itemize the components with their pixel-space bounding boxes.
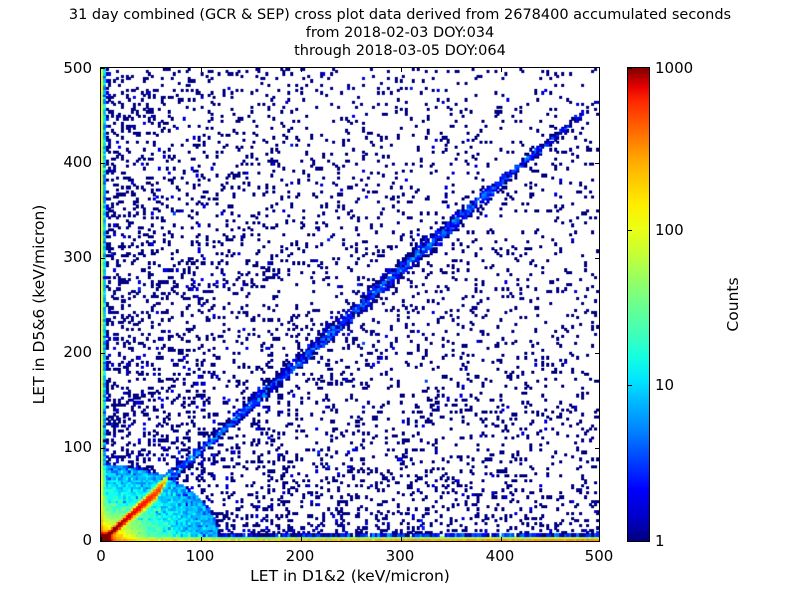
xticklabel-300: 300 (386, 547, 415, 565)
xtick-300 (401, 537, 402, 542)
yticklabel-500: 500 (50, 59, 92, 77)
xtick-500 (599, 537, 600, 542)
cbticklabel-1: 1 (655, 532, 665, 550)
yticklabel-200: 200 (50, 343, 92, 361)
title-line-3: through 2018-03-05 DOY:064 (0, 42, 800, 60)
ytick-right-300 (595, 258, 600, 259)
colorbar (627, 67, 650, 542)
ytick-100 (100, 448, 105, 449)
ytick-right-400 (595, 163, 600, 164)
cbtick-100 (627, 230, 632, 231)
xtick-0 (101, 537, 102, 542)
yticklabel-100: 100 (50, 438, 92, 456)
x-axis-label: LET in D1&2 (keV/micron) (100, 567, 600, 585)
cbticklabel-100: 100 (655, 221, 684, 239)
ytick-200 (100, 353, 105, 354)
yticklabel-300: 300 (50, 248, 92, 266)
yticklabel-0: 0 (50, 531, 92, 549)
ytick-300 (100, 258, 105, 259)
xtick-top-400 (501, 67, 502, 72)
xticklabel-100: 100 (186, 547, 215, 565)
title-line-2: from 2018-02-03 DOY:034 (0, 24, 800, 42)
let-cross-plot-figure: 31 day combined (GCR & SEP) cross plot d… (0, 0, 800, 600)
xticklabel-0: 0 (96, 547, 106, 565)
xtick-400 (501, 537, 502, 542)
y-axis-label: LET in D5&6 (keV/micron) (30, 67, 48, 542)
ytick-500 (100, 68, 105, 69)
heatmap-canvas (101, 68, 599, 541)
xticklabel-500: 500 (585, 547, 614, 565)
xtick-top-100 (201, 67, 202, 72)
ytick-400 (100, 163, 105, 164)
colorbar-label: Counts (724, 67, 742, 542)
xticklabel-200: 200 (286, 547, 315, 565)
cbticklabel-1000: 1000 (655, 59, 693, 77)
cbtick-10 (627, 385, 632, 386)
xtick-top-200 (301, 67, 302, 72)
xtick-200 (301, 537, 302, 542)
title-line-1: 31 day combined (GCR & SEP) cross plot d… (0, 6, 800, 24)
ytick-0 (100, 541, 105, 542)
xtick-top-300 (401, 67, 402, 72)
ytick-right-200 (595, 353, 600, 354)
yticklabel-400: 400 (50, 153, 92, 171)
ytick-right-100 (595, 448, 600, 449)
cbticklabel-10: 10 (655, 376, 674, 394)
figure-title: 31 day combined (GCR & SEP) cross plot d… (0, 6, 800, 60)
cbtick-1 (627, 541, 632, 542)
plot-axes-area (100, 67, 600, 542)
xticklabel-400: 400 (486, 547, 515, 565)
xtick-100 (201, 537, 202, 542)
cbtick-1000 (627, 68, 632, 69)
